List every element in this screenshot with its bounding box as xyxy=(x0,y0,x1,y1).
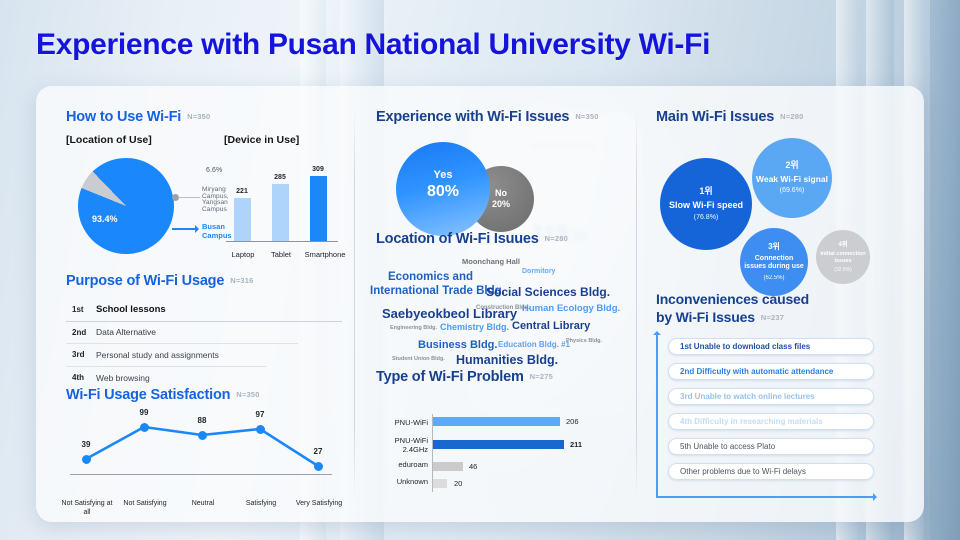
column-divider xyxy=(636,108,637,500)
list-item[interactable]: 1st Unable to download class files xyxy=(668,338,874,355)
experience-venn-chart: No 20% Yes 80% xyxy=(380,136,560,240)
problem-type-bar-chart: PNU-WiFi PNU-WiFi 2.4GHz eduroam Unknown… xyxy=(376,392,626,496)
list-item[interactable]: 3rd Unable to watch online lectures xyxy=(668,388,874,405)
bar-value: 285 xyxy=(265,174,295,181)
section-wifi-usage-satisfaction: Wi-Fi Usage SatisfactionN=350 39 99 88 9… xyxy=(66,386,342,504)
satisfaction-line-chart: 39 99 88 97 27 Not Satisfying at all Not… xyxy=(70,408,334,474)
word-cloud-term: Education Bldg. #1 xyxy=(498,341,570,349)
sample-size: N=280 xyxy=(545,234,568,243)
axis-label: Neutral xyxy=(175,500,231,509)
axis-label: Not Satisfying at all xyxy=(59,500,115,518)
bubble-rank-4: 4위 Initial connection issues (32.5%) xyxy=(816,230,870,284)
axis-label: Not Satisfying xyxy=(117,500,173,509)
word-cloud-term: Business Bldg. xyxy=(418,340,497,351)
pie-callout-percent: 6.6% xyxy=(206,167,222,174)
word-cloud-term: International Trade Bldg. xyxy=(370,286,505,298)
section-experience-with-wifi-issues: Experience with Wi-Fi IssuesN=350 xyxy=(376,108,599,126)
bar-pnu-wifi-24ghz xyxy=(433,440,564,449)
word-cloud-term: Moonchang Hall xyxy=(462,258,520,266)
bubble-rank: 3위 xyxy=(768,242,780,252)
bar-label: Smartphone xyxy=(294,250,356,259)
word-cloud-term: Physics Bldg. xyxy=(566,339,602,345)
section-title: How to Use Wi-Fi xyxy=(66,109,181,125)
device-in-use-subtitle: [Device in Use] xyxy=(224,134,299,146)
bar-value: 221 xyxy=(227,188,257,195)
pie-arrow-icon xyxy=(172,228,198,230)
column-divider xyxy=(354,108,355,500)
list-item[interactable]: 2nd Difficulty with automatic attendance xyxy=(668,363,874,380)
word-cloud-term: Chemistry Bldg. xyxy=(440,323,509,332)
bubble-percent: (32.5%) xyxy=(834,267,852,273)
data-point xyxy=(82,455,91,464)
bubble-rank: 4위 xyxy=(838,241,848,249)
data-point xyxy=(198,431,207,440)
bubble-name: Weak Wi-Fi signal xyxy=(756,174,828,184)
inconveniences-title: Inconveniences caused by Wi-Fi IssuesN=2… xyxy=(656,290,809,329)
infographic-card: How to Use Wi-FiN=350 [Location of Use] … xyxy=(36,86,924,522)
word-cloud-term: Student Union Bldg. xyxy=(392,357,445,363)
list-item[interactable]: Other problems due to Wi-Fi delays xyxy=(668,463,874,480)
data-value: 99 xyxy=(131,408,157,417)
section-title: Purpose of Wi-Fi Usage xyxy=(66,273,224,289)
list-item[interactable]: 5th Unable to access Plato xyxy=(668,438,874,455)
bubble-name: Slow Wi-Fi speed xyxy=(669,200,743,211)
word-cloud-term: Dormitory xyxy=(522,268,555,275)
bar-pnu-wifi xyxy=(433,417,560,426)
word-cloud-term: Economics and xyxy=(388,272,473,284)
bar-tablet xyxy=(272,184,289,241)
word-cloud-term: Human Ecology Bldg. xyxy=(522,304,620,314)
bubble-percent: (69.6%) xyxy=(780,187,805,195)
data-value: 27 xyxy=(305,447,331,456)
axis-label: Satisfying xyxy=(233,500,289,509)
data-value: 88 xyxy=(189,416,215,425)
sample-size: N=275 xyxy=(530,372,553,381)
sample-size: N=237 xyxy=(761,313,784,322)
bubble-rank-3: 3위 Connection issues during use (62.5%) xyxy=(740,228,808,296)
pie-callout-leader-line xyxy=(178,197,200,198)
section-purpose-of-wifi-usage: Purpose of Wi-Fi UsageN=316 1st School l… xyxy=(66,272,342,389)
rank-label: 2nd xyxy=(66,328,96,337)
section-location-of-wifi-issues: Location of Wi-Fi IsuuesN=280 xyxy=(376,230,568,248)
chart-axis xyxy=(226,241,338,242)
bar-value: 46 xyxy=(469,462,477,471)
data-point xyxy=(314,462,323,471)
data-value: 97 xyxy=(247,410,273,419)
word-cloud-term: Humanities Bldg. xyxy=(456,354,558,367)
bar-smartphone xyxy=(310,176,327,241)
word-cloud-term: Social Sciences Bldg. xyxy=(486,286,610,298)
table-row: 3rd Personal study and assignments xyxy=(66,344,266,367)
bubble-yes: Yes 80% xyxy=(396,142,490,236)
bar-unknown xyxy=(433,479,447,488)
bar-label: Unknown xyxy=(376,477,428,486)
sample-size: N=350 xyxy=(187,112,210,121)
bar-value: 309 xyxy=(303,166,333,173)
bubble-rank-1: 1위 Slow Wi-Fi speed (76.8%) xyxy=(660,158,752,250)
main-issues-bubble-chart: 1위 Slow Wi-Fi speed (76.8%) 2위 Weak Wi-F… xyxy=(652,130,904,280)
section-main-wifi-issues: Main Wi-Fi IssuesN=280 xyxy=(656,108,803,126)
section-inconveniences: Inconveniences caused by Wi-Fi IssuesN=2… xyxy=(652,290,904,504)
bubble-rank: 1위 xyxy=(699,186,712,197)
purpose-text: Data Alternative xyxy=(96,327,156,337)
bar-laptop xyxy=(234,198,251,241)
bubble-rank-2: 2위 Weak Wi-Fi signal (69.6%) xyxy=(752,138,832,218)
bar-value: 20 xyxy=(454,479,462,488)
data-value: 39 xyxy=(73,440,99,449)
pie-graphic xyxy=(78,158,174,254)
rank-label: 3rd xyxy=(66,350,96,359)
table-row: 1st School lessons xyxy=(66,299,342,322)
device-in-use-bar-chart: 221 285 309 Laptop Tablet Smartphone xyxy=(224,152,344,264)
pie-slice-label-busan: 93.4% xyxy=(92,214,118,224)
word-cloud-term: Saebyeokbeol Library xyxy=(382,307,517,320)
purpose-text: School lessons xyxy=(96,304,166,315)
sample-size: N=350 xyxy=(236,390,259,399)
bar-label: PNU-WiFi 2.4GHz xyxy=(376,436,428,455)
section-title: Wi-Fi Usage Satisfaction xyxy=(66,387,230,403)
axis-arrow-vertical-icon xyxy=(656,332,658,498)
section-title: Main Wi-Fi Issues xyxy=(656,109,774,125)
sample-size: N=350 xyxy=(575,112,598,121)
word-cloud-term: Central Library xyxy=(512,321,590,332)
bubble-name: Initial connection issues xyxy=(819,251,867,264)
column-left: How to Use Wi-FiN=350 [Location of Use] … xyxy=(58,104,354,504)
page-title: Experience with Pusan National Universit… xyxy=(36,28,710,62)
location-of-use-subtitle: [Location of Use] xyxy=(66,134,152,146)
location-of-use-pie-chart: 93.4% 6.6% Miryang Campus, Yangsan Campu… xyxy=(66,152,216,262)
list-item[interactable]: 4th Difficulty in researching materials xyxy=(668,413,874,430)
rank-label: 4th xyxy=(66,373,96,382)
purpose-text: Personal study and assignments xyxy=(96,350,219,360)
bar-label: PNU-WiFi xyxy=(376,418,428,427)
word-cloud-term: Engineering Bldg. xyxy=(390,326,437,332)
section-title-line2: by Wi-Fi Issues xyxy=(656,309,755,325)
bar-eduroam xyxy=(433,462,463,471)
sample-size: N=316 xyxy=(230,276,253,285)
bubble-percent: (76.8%) xyxy=(694,214,719,222)
axis-arrow-horizontal-icon xyxy=(656,496,876,498)
purpose-text: Web browsing xyxy=(96,373,150,383)
axis-label: Very Satisfying xyxy=(291,500,347,509)
bubble-rank: 2위 xyxy=(785,160,798,171)
bubble-label: Yes xyxy=(396,169,490,181)
section-title: Type of Wi-Fi Problem xyxy=(376,369,524,385)
table-row: 2nd Data Alternative xyxy=(66,322,298,345)
bar-label: eduroam xyxy=(376,460,428,469)
column-middle: Experience with Wi-Fi IssuesN=350 No 20%… xyxy=(370,104,628,504)
data-point xyxy=(140,423,149,432)
section-title-line1: Inconveniences caused xyxy=(656,290,809,308)
location-word-cloud: Moonchang HallDormitoryEconomics andInte… xyxy=(370,258,628,374)
data-point xyxy=(256,425,265,434)
bar-value: 211 xyxy=(570,440,582,449)
bubble-percent: (62.5%) xyxy=(763,275,784,282)
bar-value: 206 xyxy=(566,417,579,426)
section-title: Experience with Wi-Fi Issues xyxy=(376,109,569,125)
section-how-to-use-wifi: How to Use Wi-FiN=350 xyxy=(66,108,210,126)
bubble-name: Connection issues during use xyxy=(744,255,804,272)
chart-axis xyxy=(70,474,332,475)
section-type-of-wifi-problem: Type of Wi-Fi ProblemN=275 xyxy=(376,368,553,386)
section-title: Location of Wi-Fi Isuues xyxy=(376,231,539,247)
window-blind-stripe xyxy=(930,0,960,540)
rank-label: 1st xyxy=(66,305,96,314)
sample-size: N=280 xyxy=(780,112,803,121)
column-right: Main Wi-Fi IssuesN=280 1위 Slow Wi-Fi spe… xyxy=(652,104,908,504)
bubble-value: 80% xyxy=(396,183,490,201)
